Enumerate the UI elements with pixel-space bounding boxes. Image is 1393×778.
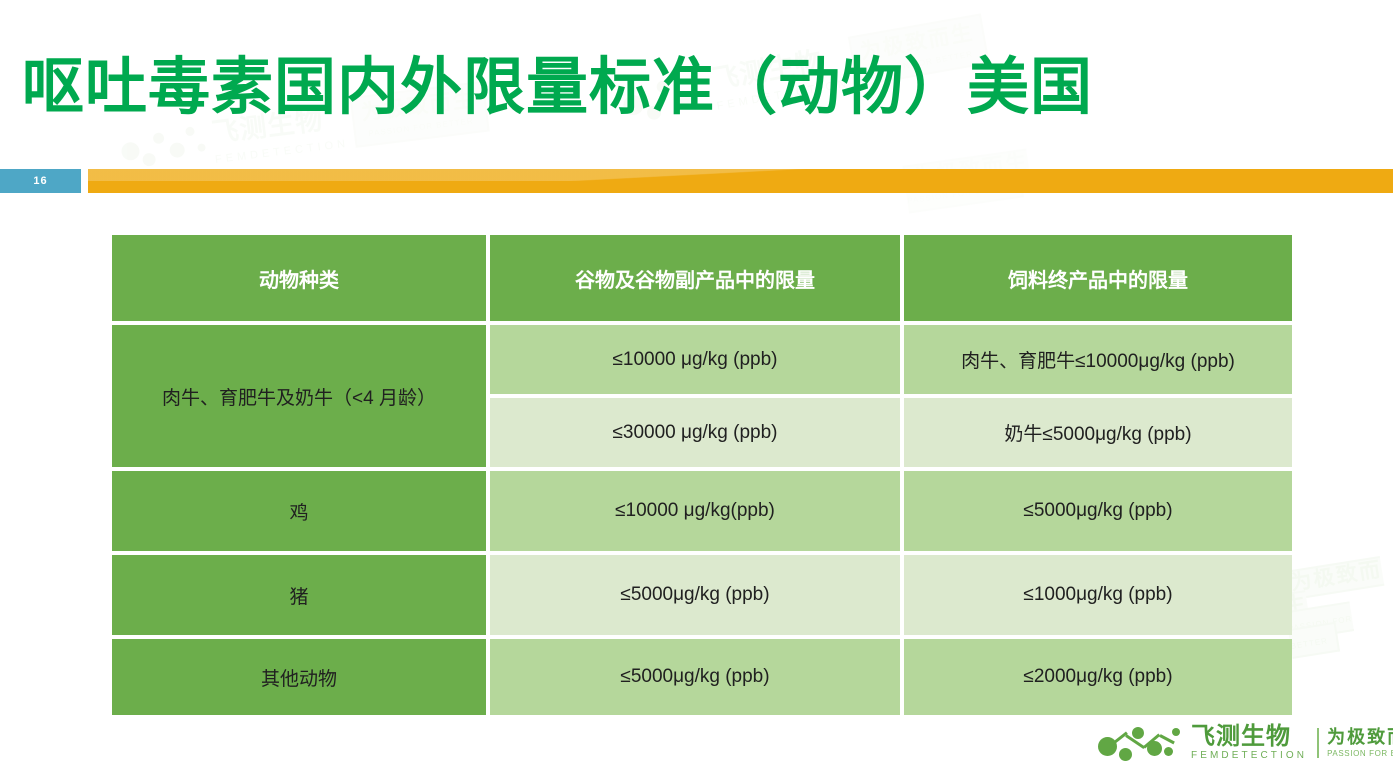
accent-bar (88, 169, 1393, 193)
footer-wordmark: 飞测生物 FEMDETECTION (1191, 725, 1307, 761)
cell-animal: 肉牛、育肥牛及奶牛（<4 月龄） (112, 325, 486, 467)
cell-grain-limit: ≤5000μg/kg (ppb) (490, 639, 900, 715)
footer-brand-en: FEMDETECTION (1191, 751, 1307, 761)
cell-animal: 猪 (112, 555, 486, 635)
watermark-brand-en: FEMDETECTION (214, 138, 349, 166)
cell-grain-limit: ≤10000 μg/kg(ppb) (490, 471, 900, 551)
cell-grain-limit: ≤5000μg/kg (ppb) (490, 555, 900, 635)
footer-slogan: 为极致而生 PASSION FOR BETTER (1317, 728, 1393, 758)
column-header-feed-limit: 饲料终产品中的限量 (904, 235, 1292, 321)
table-header-row: 动物种类 谷物及谷物副产品中的限量 饲料终产品中的限量 (112, 235, 1292, 321)
cell-feed-limit: 奶牛≤5000μg/kg (ppb) (904, 398, 1292, 467)
table-row: 鸡 ≤10000 μg/kg(ppb) ≤5000μg/kg (ppb) (112, 471, 1292, 551)
page-title: 呕吐毒素国内外限量标准（动物）美国 (22, 52, 1342, 124)
molecule-icon (1098, 722, 1184, 764)
cell-grain-limit: ≤30000 μg/kg (ppb) (490, 398, 900, 467)
cell-feed-limit: 肉牛、育肥牛≤10000μg/kg (ppb) (904, 325, 1292, 394)
page-number-badge: 16 (0, 169, 81, 193)
molecule-icon (119, 121, 209, 171)
cell-animal: 鸡 (112, 471, 486, 551)
cell-feed-limit: ≤1000μg/kg (ppb) (904, 555, 1292, 635)
column-header-animal: 动物种类 (112, 235, 486, 321)
cell-feed-limit: ≤5000μg/kg (ppb) (904, 471, 1292, 551)
slide-canvas: 飞测生物 FEMDETECTION 为极致而生 PASSION FOR BETT… (0, 0, 1393, 778)
limits-table: 动物种类 谷物及谷物副产品中的限量 饲料终产品中的限量 肉牛、育肥牛及奶牛（<4… (108, 231, 1296, 719)
cell-animal: 其他动物 (112, 639, 486, 715)
watermark-slogan-right: 为极致而生 PASSION FOR BETTER (1279, 558, 1393, 654)
column-header-grain-limit: 谷物及谷物副产品中的限量 (490, 235, 900, 321)
table-row: 肉牛、育肥牛及奶牛（<4 月龄） ≤10000 μg/kg (ppb) 肉牛、育… (112, 325, 1292, 394)
footer-brand-cn: 飞测生物 (1191, 725, 1307, 749)
watermark-slogan-cn: 为极致而生 (1283, 558, 1384, 618)
cell-grain-limit: ≤10000 μg/kg (ppb) (490, 325, 900, 394)
table-row: 其他动物 ≤5000μg/kg (ppb) ≤2000μg/kg (ppb) (112, 639, 1292, 715)
footer-logo: 飞测生物 FEMDETECTION 为极致而生 PASSION FOR BETT… (1098, 722, 1393, 764)
cell-feed-limit: ≤2000μg/kg (ppb) (904, 639, 1292, 715)
table-row: 猪 ≤5000μg/kg (ppb) ≤1000μg/kg (ppb) (112, 555, 1292, 635)
footer-slogan-en: PASSION FOR BETTER (1327, 750, 1393, 758)
watermark-slogan-en: PASSION FOR BETTER (1287, 614, 1353, 651)
footer-slogan-cn: 为极致而生 (1327, 728, 1393, 747)
